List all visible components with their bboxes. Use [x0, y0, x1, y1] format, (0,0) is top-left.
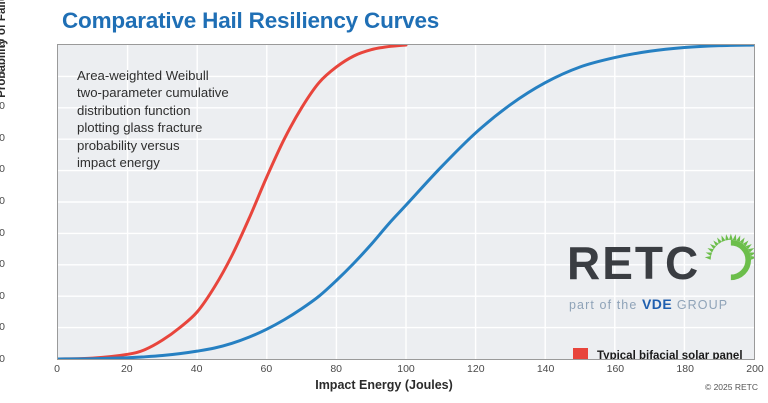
sunburst-icon — [704, 232, 755, 288]
retc-logo: RETC part of the VDE GROUP — [567, 238, 755, 318]
copyright-notice: © 2025 RETC — [705, 382, 758, 392]
retc-tagline: part of the VDE GROUP — [569, 296, 728, 312]
plot-area: Area-weighted Weibull two-parameter cumu… — [57, 44, 755, 360]
hail-resiliency-chart-page: { "title": "Comparative Hail Resiliency … — [0, 0, 768, 403]
annotation-text: Area-weighted Weibull two-parameter cumu… — [77, 67, 229, 171]
legend-label-typical-bifacial: Typical bifacial solar panel — [597, 350, 743, 361]
page-title: Comparative Hail Resiliency Curves — [62, 8, 439, 34]
legend-swatch-red — [573, 348, 588, 360]
legend-item-typical-bifacial: Typical bifacial solar panel — [573, 347, 743, 360]
retc-wordmark: RETC — [567, 240, 700, 286]
x-axis-title: Impact Energy (Joules) — [0, 378, 768, 392]
chart-legend: Typical bifacial solar panel Hail-harden… — [573, 347, 743, 360]
